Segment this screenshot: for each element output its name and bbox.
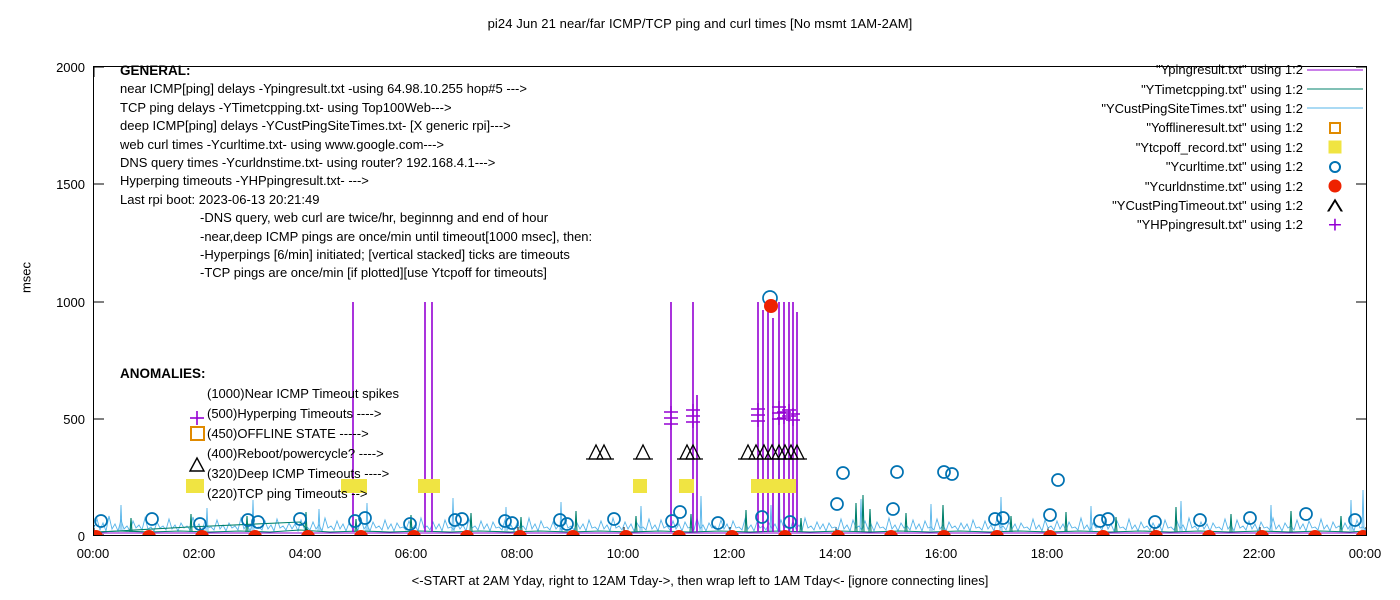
legend-label-ycustpingtimeout: "YCustPingTimeout.txt" using 1:2 — [1112, 198, 1303, 213]
general-detail-3: -TCP pings are once/min [if plotted][use… — [120, 264, 592, 282]
square-filled-icon — [1329, 141, 1342, 154]
legend-row-ycustpingsitetimes: "YCustPingSiteTimes.txt" using 1:2 — [1040, 99, 1367, 118]
anomaly-item-1: (500)Hyperping Timeouts ----> — [120, 404, 399, 424]
x-tick-10: 20:00 — [1113, 546, 1193, 561]
anomaly-item-5: (220)TCP ping Timeouts --> — [120, 484, 399, 504]
legend-row-ypingresult: "Ypingresult.txt" using 1:2 — [1040, 60, 1367, 79]
legend-label-ycurldnstime: "Ycurldnstime.txt" using 1:2 — [1145, 179, 1303, 194]
x-tick-2: 04:00 — [265, 546, 345, 561]
y-tick-1000: 1000 — [25, 295, 85, 310]
legend-row-yofflineresult: "Yofflineresult.txt" using 1:2 — [1040, 118, 1367, 137]
general-line-3: web curl times -Ycurltime.txt- using www… — [120, 136, 592, 154]
plus-icon: + — [1327, 215, 1343, 234]
legend-key-ycurltime — [1303, 157, 1367, 176]
legend-key-ycurldnstime — [1303, 176, 1367, 195]
legend-key-yofflineresult — [1303, 118, 1367, 137]
x-tick-8: 16:00 — [901, 546, 981, 561]
y-tick-0: 0 — [25, 529, 85, 544]
legend-key-ytcpoff — [1303, 138, 1367, 157]
anomalies-annotation-block: ANOMALIES: (1000)Near ICMP Timeout spike… — [120, 364, 399, 504]
general-line-1: TCP ping delays -YTimetcpping.txt- using… — [120, 99, 592, 117]
anomaly-item-2: (450)OFFLINE STATE -----> — [120, 424, 399, 444]
x-tick-9: 18:00 — [1007, 546, 1087, 561]
legend-label-yhppingresult: "YHPpingresult.txt" using 1:2 — [1137, 217, 1303, 232]
legend-row-yhppingresult: "YHPpingresult.txt" using 1:2 + — [1040, 215, 1367, 234]
legend-row-ycurltime: "Ycurltime.txt" using 1:2 — [1040, 157, 1367, 176]
y-tick-2000: 2000 — [25, 60, 85, 75]
x-tick-11: 22:00 — [1219, 546, 1299, 561]
general-line-4: DNS query times -Ycurldnstime.txt- using… — [120, 154, 592, 172]
legend-label-ycustpingsitetimes: "YCustPingSiteTimes.txt" using 1:2 — [1101, 101, 1303, 116]
x-axis-caption: <-START at 2AM Yday, right to 12AM Tday-… — [0, 573, 1400, 588]
legend-row-ytcpoff: "Ytcpoff_record.txt" using 1:2 — [1040, 138, 1367, 157]
x-tick-7: 14:00 — [795, 546, 875, 561]
anomaly-item-4: (320)Deep ICMP Timeouts ----> — [120, 464, 399, 484]
legend-label-ytimetcpping: "YTimetcpping.txt" using 1:2 — [1141, 82, 1303, 97]
circle-filled-icon — [1329, 180, 1342, 193]
legend-row-ycurldnstime: "Ycurldnstime.txt" using 1:2 — [1040, 176, 1367, 195]
circle-open-icon — [1329, 161, 1341, 173]
anomaly-item-0: (1000)Near ICMP Timeout spikes — [120, 384, 399, 404]
y-tick-1500: 1500 — [25, 177, 85, 192]
legend-row-ytimetcpping: "YTimetcpping.txt" using 1:2 — [1040, 79, 1367, 98]
x-tick-5: 10:00 — [583, 546, 663, 561]
legend-key-ycustpingtimeout — [1303, 196, 1367, 215]
chart-title: pi24 Jun 21 near/far ICMP/TCP ping and c… — [0, 16, 1400, 31]
chart-canvas: pi24 Jun 21 near/far ICMP/TCP ping and c… — [0, 0, 1400, 600]
x-tick-4: 08:00 — [477, 546, 557, 561]
legend-key-yhppingresult: + — [1303, 215, 1367, 234]
legend-key-ytimetcpping — [1303, 79, 1367, 98]
general-line-6: Last rpi boot: 2023-06-13 20:21:49 — [120, 191, 592, 209]
x-tick-3: 06:00 — [371, 546, 451, 561]
legend-label-ycurltime: "Ycurltime.txt" using 1:2 — [1166, 159, 1303, 174]
y-tick-500: 500 — [25, 412, 85, 427]
legend-row-ycustpingtimeout: "YCustPingTimeout.txt" using 1:2 — [1040, 196, 1367, 215]
general-line-0: near ICMP[ping] delays -Ypingresult.txt … — [120, 80, 592, 98]
square-open-icon — [1329, 122, 1341, 134]
x-tick-6: 12:00 — [689, 546, 769, 561]
legend-key-ypingresult — [1303, 60, 1367, 79]
anomalies-heading: ANOMALIES: — [120, 364, 399, 384]
x-tick-0: 00:00 — [53, 546, 133, 561]
general-heading: GENERAL: — [120, 62, 592, 80]
legend-label-yofflineresult: "Yofflineresult.txt" using 1:2 — [1146, 120, 1303, 135]
general-line-2: deep ICMP[ping] delays -YCustPingSiteTim… — [120, 117, 592, 135]
legend-label-ypingresult: "Ypingresult.txt" using 1:2 — [1156, 62, 1303, 77]
general-detail-1: -near,deep ICMP pings are once/min until… — [120, 228, 592, 246]
anomaly-item-3: (400)Reboot/powercycle? ----> — [120, 444, 399, 464]
general-detail-2: -Hyperpings [6/min] initiated; [vertical… — [120, 246, 592, 264]
general-annotation-block: GENERAL: near ICMP[ping] delays -Ypingre… — [120, 62, 592, 283]
x-tick-12: 00:00 — [1325, 546, 1400, 561]
general-detail-0: -DNS query, web curl are twice/hr, begin… — [120, 209, 592, 227]
x-tick-1: 02:00 — [159, 546, 239, 561]
general-line-5: Hyperping timeouts -YHPpingresult.txt- -… — [120, 172, 592, 190]
legend-label-ytcpoff: "Ytcpoff_record.txt" using 1:2 — [1136, 140, 1303, 155]
legend: "Ypingresult.txt" using 1:2 "YTimetcppin… — [1040, 60, 1367, 235]
legend-key-ycustpingsitetimes — [1303, 99, 1367, 118]
